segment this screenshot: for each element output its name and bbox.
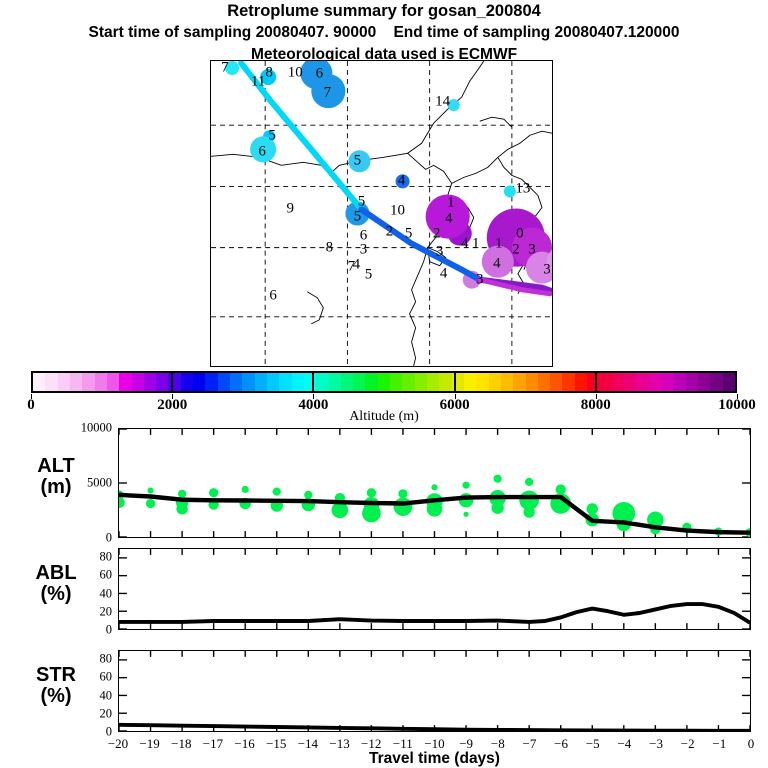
particle-blobs (225, 61, 552, 289)
map-label: 5 (268, 129, 276, 144)
colorbar-swatch (58, 373, 70, 391)
colorbar-swatch (255, 373, 267, 391)
map-label: 1 (447, 196, 455, 211)
colorbar-swatch (205, 373, 217, 391)
colorbar-swatch (193, 373, 205, 391)
map-label: 1 (472, 236, 480, 251)
abl-plot-panel[interactable] (118, 548, 751, 630)
colorbar-swatch (267, 373, 279, 391)
colorbar-swatch (82, 373, 94, 391)
map-label: 10 (390, 204, 405, 219)
colorbar-swatch (489, 373, 501, 391)
colorbar-swatch (599, 373, 611, 391)
map-graphics (211, 61, 552, 366)
colorbar-swatch (107, 373, 119, 391)
map-label: 4 (445, 211, 453, 226)
y-tick-label: 0 (56, 725, 112, 740)
altitude-colorbar[interactable] (31, 371, 737, 393)
str-chart (119, 651, 750, 731)
colorbar-swatch (673, 373, 685, 391)
map-label: 2 (386, 224, 394, 239)
map-label: 3 (360, 242, 368, 257)
abl-trend-line (119, 604, 750, 623)
y-tick-label: 60 (56, 568, 112, 583)
abl-x-ticks (119, 549, 750, 629)
y-tick-label: 80 (56, 550, 112, 565)
y-tick-label: 20 (56, 604, 112, 619)
map-label: 13 (515, 182, 530, 197)
colorbar-swatch (378, 373, 390, 391)
map-label: 2 (512, 242, 520, 257)
map-label: 4 (461, 236, 469, 251)
map-label: 7 (348, 259, 356, 274)
colorbar-swatch (550, 373, 562, 391)
colorbar-swatch (390, 373, 402, 391)
map-label: 1 (495, 236, 503, 251)
map-label: 14 (435, 95, 450, 110)
map-label: 5 (405, 226, 413, 241)
colorbar-swatch (279, 373, 291, 391)
abl-y-ticks (119, 558, 750, 629)
str-y-ticks (119, 660, 750, 731)
colorbar-swatch (501, 373, 513, 391)
map-label: 7 (221, 61, 229, 76)
colorbar-swatch (70, 373, 82, 391)
colorbar-swatch (439, 373, 451, 391)
colorbar-swatch (218, 373, 230, 391)
colorbar-swatch (636, 373, 648, 391)
abl-chart (119, 549, 750, 629)
y-tick-label: 60 (56, 670, 112, 685)
colorbar-swatch (132, 373, 144, 391)
map-label: 10 (288, 66, 303, 81)
map-label: 8 (265, 66, 273, 81)
colorbar-swatch (427, 373, 439, 391)
colorbar-swatch (575, 373, 587, 391)
colorbar-swatch (710, 373, 722, 391)
colorbar-swatch (316, 373, 328, 391)
colorbar-swatch (341, 373, 353, 391)
map-label: 5 (365, 267, 373, 282)
map-label: 3 (436, 244, 444, 259)
colorbar-swatch (612, 373, 624, 391)
map-label: 5 (354, 154, 362, 169)
map-label: 5 (354, 209, 362, 224)
retroplume-map[interactable]: 7118106756145455109135414110236386324752… (210, 60, 553, 367)
y-tick-label: 20 (56, 706, 112, 721)
colorbar-swatch (119, 373, 131, 391)
map-label: 6 (316, 67, 324, 82)
map-label: 4 (440, 266, 448, 281)
map-label: 9 (286, 202, 294, 217)
y-tick-label: 80 (56, 652, 112, 667)
colorbar-swatch (181, 373, 193, 391)
y-tick-label: 10000 (56, 421, 112, 436)
colorbar-swatch (526, 373, 538, 391)
x-axis-title: Travel time (days) (118, 750, 751, 768)
map-label: 2 (433, 226, 441, 241)
colorbar-divider (595, 371, 597, 393)
colorbar-swatch (661, 373, 673, 391)
colorbar-swatch (562, 373, 574, 391)
colorbar-divider (171, 371, 173, 393)
page-title: Retroplume summary for gosan_200804 (0, 2, 768, 21)
map-label: 8 (326, 240, 334, 255)
colorbar-title: Altitude (m) (0, 409, 768, 425)
y-tick-label: 0 (56, 623, 112, 638)
colorbar-swatch (624, 373, 636, 391)
map-label: 4 (398, 174, 406, 189)
map-label: 11 (251, 75, 265, 90)
colorbar-swatch (649, 373, 661, 391)
alt-plot-panel[interactable] (118, 428, 751, 538)
map-label: 3 (543, 262, 551, 277)
map-label: 0 (516, 226, 524, 241)
colorbar-swatch (45, 373, 57, 391)
map-label: 6 (269, 288, 277, 303)
colorbar-swatch (329, 373, 341, 391)
colorbar-swatch (156, 373, 168, 391)
colorbar-divider (312, 371, 314, 393)
map-label: 6 (258, 145, 266, 160)
colorbar-swatch (587, 373, 599, 391)
colorbar-swatch (353, 373, 365, 391)
colorbar-swatch (242, 373, 254, 391)
colorbar-swatch (230, 373, 242, 391)
sampling-times: Start time of sampling 20080407. 90000 E… (0, 24, 768, 42)
colorbar-swatch (476, 373, 488, 391)
y-tick-label: 40 (56, 586, 112, 601)
colorbar-swatch (538, 373, 550, 391)
str-x-ticks (119, 651, 750, 731)
colorbar-swatch (513, 373, 525, 391)
str-plot-panel[interactable] (118, 650, 751, 732)
colorbar-swatch (292, 373, 304, 391)
colorbar-swatch (723, 373, 735, 391)
colorbar-swatch (402, 373, 414, 391)
colorbar-swatch (698, 373, 710, 391)
alt-label-line1: ALT (6, 456, 106, 477)
colorbar-divider (454, 371, 456, 393)
colorbar-swatch (33, 373, 45, 391)
y-tick-label: 40 (56, 688, 112, 703)
colorbar-swatch (365, 373, 377, 391)
map-label: 3 (528, 242, 536, 257)
map-label: 3 (476, 272, 484, 287)
alt-chart (119, 429, 750, 537)
map-label: 4 (493, 256, 501, 271)
colorbar-swatch (144, 373, 156, 391)
y-tick-label: 5000 (56, 476, 112, 491)
colorbar-swatch (415, 373, 427, 391)
colorbar-swatch (464, 373, 476, 391)
y-tick-label: 0 (56, 531, 112, 546)
colorbar-swatch (95, 373, 107, 391)
colorbar-swatch (686, 373, 698, 391)
map-label: 7 (324, 86, 332, 101)
